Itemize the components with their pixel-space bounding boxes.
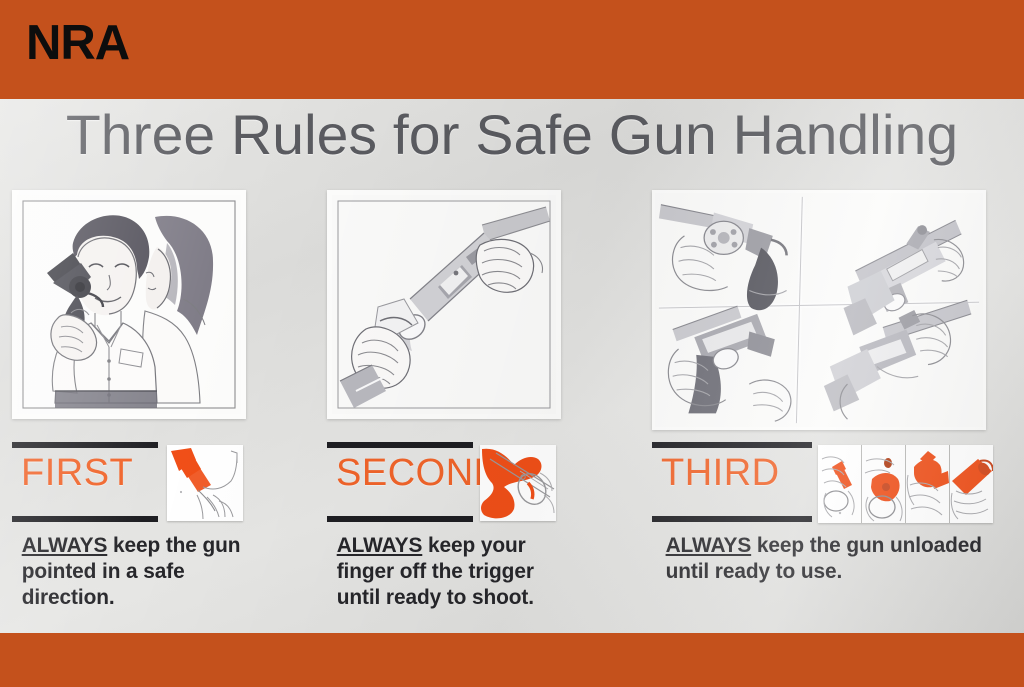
finger-alongside-trigger-guard-icon — [480, 445, 556, 521]
thumbnail-strip — [480, 445, 556, 521]
nra-logo: NRA — [26, 19, 129, 68]
always-emphasis: ALWAYS — [337, 533, 423, 557]
illustration-man-holding-revolver-beside-woman — [12, 190, 246, 419]
unload-shotgun-icon — [950, 445, 993, 523]
rule-text: ALWAYS keep the gun unloaded until ready… — [652, 532, 986, 584]
illustration-hands-holding-shotgun-finger-off-trigger — [327, 190, 561, 419]
ordinal-label: THIRD — [661, 454, 780, 492]
unload-pistol-magazine-icon — [862, 445, 906, 523]
divider-bottom — [12, 516, 158, 522]
ordinal-label: FIRST — [21, 454, 133, 492]
thumbnail-strip — [818, 445, 993, 523]
header-band: NRA — [0, 0, 1024, 99]
rule-text: ALWAYS keep your finger off the trigger … — [327, 532, 579, 610]
always-emphasis: ALWAYS — [666, 533, 752, 557]
divider-bottom — [327, 516, 473, 522]
always-emphasis: ALWAYS — [22, 533, 108, 557]
rule-text: ALWAYS keep the gun pointed in a safe di… — [12, 532, 264, 610]
page-title: Three Rules for Safe Gun Handling — [0, 104, 1024, 166]
divider-bottom — [652, 516, 812, 522]
thumbnail-strip — [167, 445, 243, 521]
nra-safety-poster: NRA Three Rules for Safe Gun Handling — [0, 0, 1024, 687]
rule-label-first: FIRST — [12, 442, 262, 610]
footer-band — [0, 633, 1024, 687]
rule-column-first: FIRST — [12, 190, 262, 419]
ordinal-label: SECOND — [336, 454, 502, 492]
unload-revolver-icon — [818, 445, 862, 523]
illustration-four-firearms-being-unloaded — [652, 190, 986, 430]
unload-bolt-action-icon — [906, 445, 950, 523]
rule-column-third: THIRD — [652, 190, 992, 430]
rule-column-second: SECOND — [327, 190, 577, 419]
rule-label-second: SECOND — [327, 442, 577, 610]
gun-pointed-up-in-safe-direction-icon — [167, 445, 243, 521]
rule-label-third: THIRD — [652, 442, 992, 584]
